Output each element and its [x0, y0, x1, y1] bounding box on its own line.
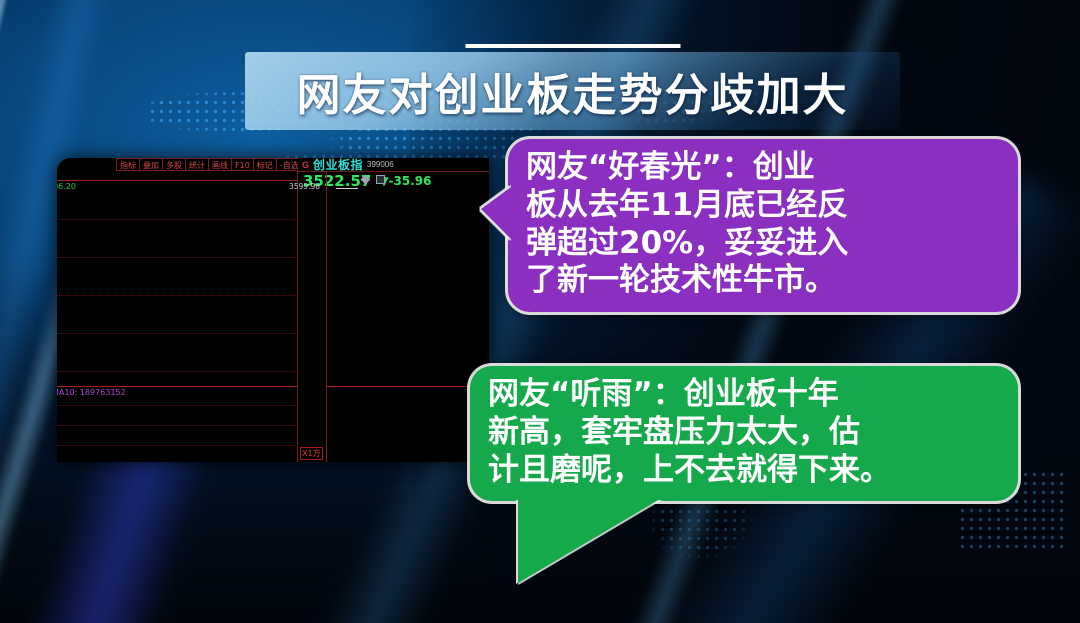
quote-flag: G — [302, 160, 309, 170]
bubble-green-line: 网友“听雨”：创业板十年 — [488, 376, 1002, 414]
quote-index-code: 399006 — [367, 160, 394, 169]
quote-data-list — [326, 171, 489, 386]
bubble-purple-line: 了新一轮技术性牛市。 — [526, 262, 1002, 300]
page-title: 网友对创业板走势分歧加大 — [297, 59, 849, 123]
bubble-purple-line: 网友“好春光”：创业 — [526, 149, 1002, 187]
toolbar-spacer — [57, 158, 116, 171]
bubble-tail-green — [518, 499, 660, 583]
toolbar-button-drawline[interactable]: 画线 — [208, 158, 231, 171]
screen-stage: 网友对创业板走势分歧加大 指标 叠加 多股 统计 画线 F10 标记 -自选 返… — [0, 0, 1080, 623]
toolbar-button-multistock[interactable]: 多股 — [162, 158, 185, 171]
toolbar-button-stats[interactable]: 统计 — [185, 158, 208, 171]
bubble-tail-purple — [481, 187, 511, 239]
price-axis — [298, 171, 326, 386]
price-chart-pane[interactable]: 06.20 — [57, 171, 298, 386]
bubble-green-body: 网友“听雨”：创业板十年 新高，套牢盘压力太大，估 计且磨呢，上不去就得下来。 — [470, 366, 1018, 501]
toolbar-button-indicator[interactable]: 指标 — [116, 158, 139, 171]
bubble-purple-line: 板从去年11月底已经反 — [526, 187, 1002, 225]
candlestick-chart — [57, 171, 298, 386]
speech-bubble-green: 网友“听雨”：创业板十年 新高，套牢盘压力太大，估 计且磨呢，上不去就得下来。 — [470, 366, 1018, 501]
bubble-green-line: 新高，套牢盘压力太大，估 — [488, 414, 1002, 452]
stock-terminal-window: 指标 叠加 多股 统计 画线 F10 标记 -自选 返回 G 创业板指 3990… — [57, 158, 489, 462]
toolbar-button-mark[interactable]: 标记 — [253, 158, 276, 171]
quote-header: G 创业板指 399006 — [298, 158, 489, 172]
bubble-green-line: 计且磨呢，上不去就得下来。 — [488, 452, 1002, 490]
bubble-purple-body: 网友“好春光”：创业 板从去年11月底已经反 弹超过20%，妥妥进入 了新一轮技… — [508, 139, 1018, 312]
toolbar-button-overlay[interactable]: 叠加 — [139, 158, 162, 171]
speech-bubble-purple: 网友“好春光”：创业 板从去年11月底已经反 弹超过20%，妥妥进入 了新一轮技… — [508, 139, 1018, 312]
volume-bars — [57, 387, 298, 462]
title-banner: 网友对创业板走势分歧加大 — [245, 52, 900, 130]
bubble-purple-line: 弹超过20%，妥妥进入 — [526, 225, 1002, 263]
volume-ma-label: MA10: 189763152 — [57, 388, 126, 397]
volume-chart-pane[interactable]: MA10: 189763152 — [57, 386, 298, 462]
volume-unit-label: X1万 — [300, 447, 323, 460]
title-rule — [465, 44, 680, 48]
toolbar-button-f10[interactable]: F10 — [231, 158, 253, 171]
time-and-sales-list[interactable] — [326, 386, 489, 462]
